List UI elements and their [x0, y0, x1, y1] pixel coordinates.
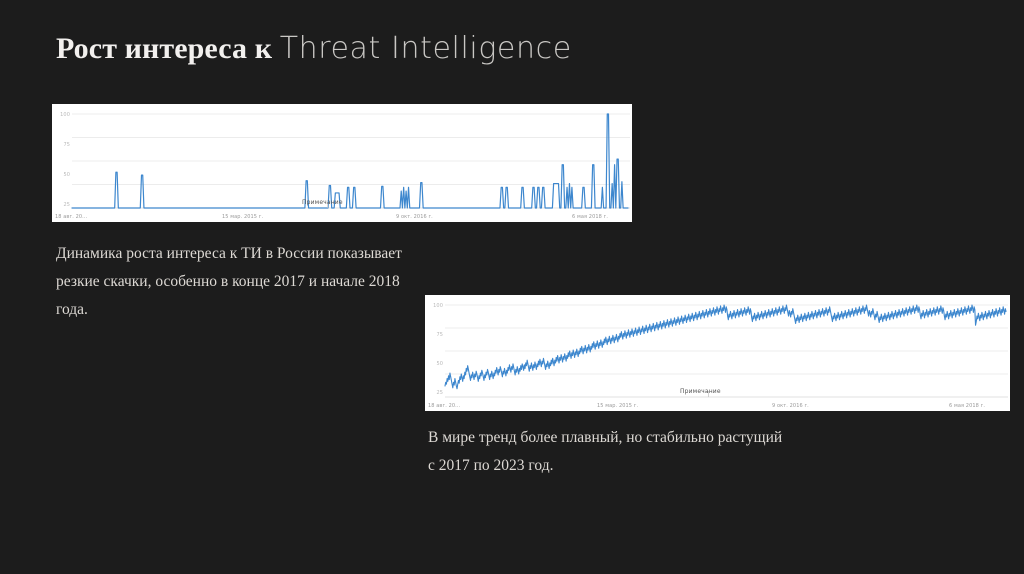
caption-russia-line-1: Динамика роста интереса к ТИ в России по…: [56, 240, 402, 268]
chart-russia-xtick-3: 6 мая 2018 г.: [572, 214, 608, 220]
chart-russia-ytick-50: 50: [54, 172, 70, 178]
caption-world: В мире тренд более плавный, но стабильно…: [428, 424, 782, 480]
chart-world-xtick-0: 18 авг. 20...: [428, 403, 460, 409]
caption-world-line-1: В мире тренд более плавный, но стабильно…: [428, 424, 782, 452]
caption-russia-line-3: года.: [56, 296, 402, 324]
chart-russia-plot-area: 100 75 50 25 18 авг. 20... 15 мар. 2015 …: [52, 104, 632, 222]
chart-world-ytick-50: 50: [427, 361, 443, 367]
page-title-en: Threat Intelligence: [280, 31, 572, 66]
chart-russia-ytick-25: 25: [54, 202, 70, 208]
chart-world-xtick-2: 9 окт. 2016 г.: [772, 403, 809, 409]
chart-card-russia[interactable]: 100 75 50 25 18 авг. 20... 15 мар. 2015 …: [52, 104, 632, 222]
chart-world-ytick-75: 75: [427, 332, 443, 338]
chart-russia-annotation: Примечание: [302, 199, 343, 207]
chart-russia-ytick-75: 75: [54, 142, 70, 148]
chart-russia-ytick-100: 100: [54, 112, 70, 118]
chart-world-plot-area: 100 75 50 25 18 авг. 20... 15 мар. 2015 …: [425, 295, 1010, 411]
chart-russia-xtick-0: 18 авг. 20...: [55, 214, 87, 220]
chart-card-world[interactable]: 100 75 50 25 18 авг. 20... 15 мар. 2015 …: [425, 295, 1010, 411]
caption-russia-line-2: резкие скачки, особенно в конце 2017 и н…: [56, 268, 402, 296]
chart-world-ytick-25: 25: [427, 390, 443, 396]
slide-root: Рост интереса к Threat Intelligence 100 …: [0, 0, 1024, 574]
chart-world-annotation: Примечание: [680, 388, 721, 396]
chart-world-xtick-3: 6 мая 2018 г.: [949, 403, 985, 409]
caption-world-line-2: с 2017 по 2023 год.: [428, 452, 782, 480]
caption-russia: Динамика роста интереса к ТИ в России по…: [56, 240, 402, 324]
chart-russia-xtick-1: 15 мар. 2015 г.: [222, 214, 263, 220]
chart-russia-xtick-2: 9 окт. 2016 г.: [396, 214, 433, 220]
chart-world-ytick-100: 100: [427, 303, 443, 309]
page-title: Рост интереса к Threat Intelligence: [56, 28, 572, 70]
chart-world-xtick-1: 15 мар. 2015 г.: [597, 403, 638, 409]
page-title-ru: Рост интереса к: [56, 32, 280, 65]
